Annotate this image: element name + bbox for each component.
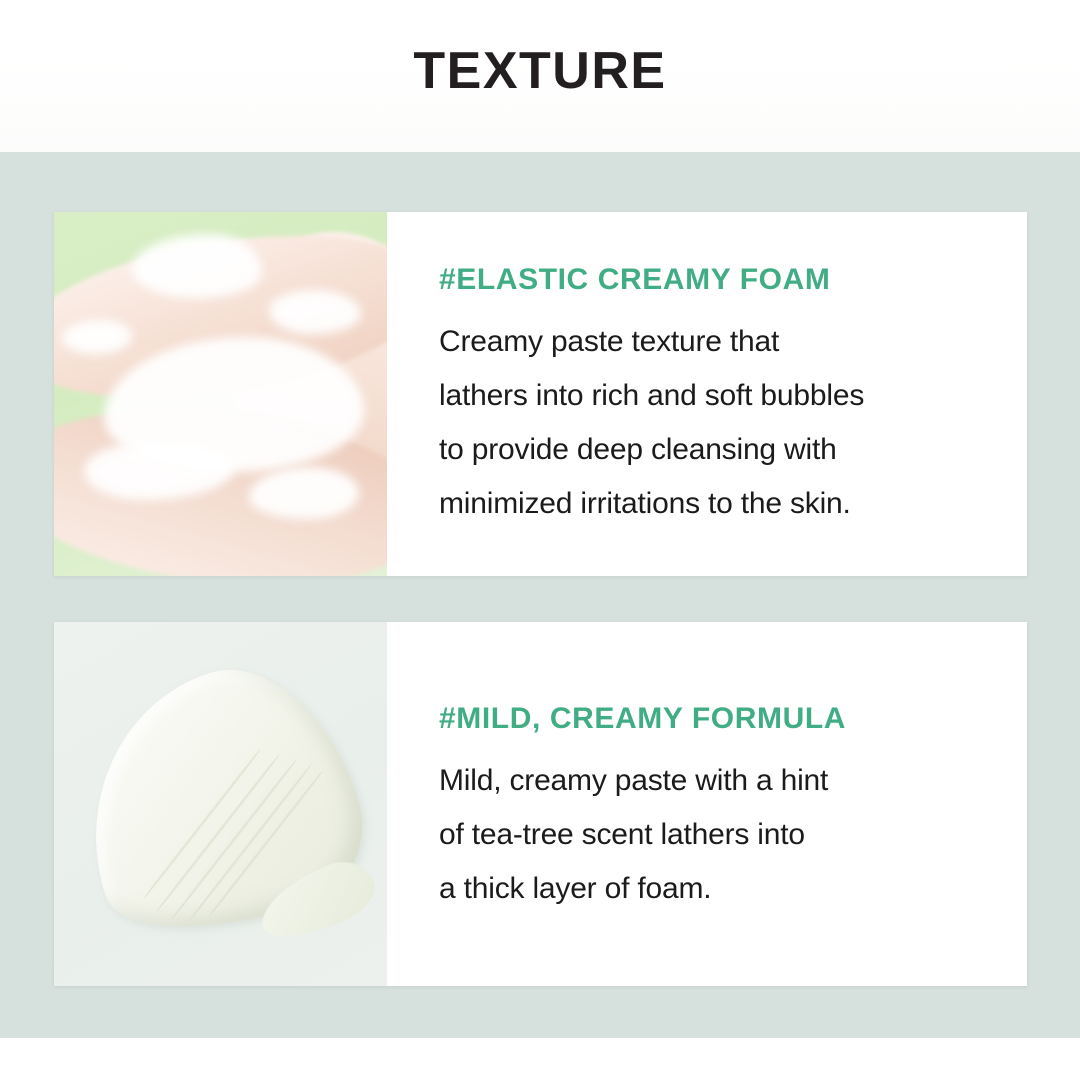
hands-lathering-foam-image	[54, 212, 387, 576]
page-header: TEXTURE	[0, 0, 1080, 152]
foam-blob-a-icon	[132, 234, 262, 298]
card-2-body-line-3: a thick layer of foam.	[439, 862, 987, 916]
card-1-content: #ELASTIC CREAMY FOAM Creamy paste textur…	[387, 212, 1027, 576]
card-1-body-line-3: to provide deep cleansing with	[439, 423, 987, 477]
card-1-body-line-1: Creamy paste texture that	[439, 315, 987, 369]
texture-page: TEXTURE #ELASTIC CREAMY FOAM Creamy past…	[0, 0, 1080, 1080]
cream-swatch-group	[82, 677, 352, 937]
card-1-headline: #ELASTIC CREAMY FOAM	[439, 263, 987, 297]
card-1-body-line-2: lathers into rich and soft bubbles	[439, 369, 987, 423]
card-2-content: #MILD, CREAMY FORMULA Mild, creamy paste…	[387, 622, 1027, 986]
texture-card-elastic-creamy-foam: #ELASTIC CREAMY FOAM Creamy paste textur…	[54, 212, 1027, 576]
cream-swatch-image	[54, 622, 387, 986]
card-2-headline: #MILD, CREAMY FORMULA	[439, 702, 987, 736]
page-title: TEXTURE	[413, 45, 666, 107]
texture-card-mild-creamy-formula: #MILD, CREAMY FORMULA Mild, creamy paste…	[54, 622, 1027, 986]
card-2-body-line-2: of tea-tree scent lathers into	[439, 808, 987, 862]
card-1-body-line-4: minimized irritations to the skin.	[439, 477, 987, 531]
foam-blob-d-icon	[269, 290, 361, 334]
card-2-body-line-1: Mild, creamy paste with a hint	[439, 754, 987, 808]
